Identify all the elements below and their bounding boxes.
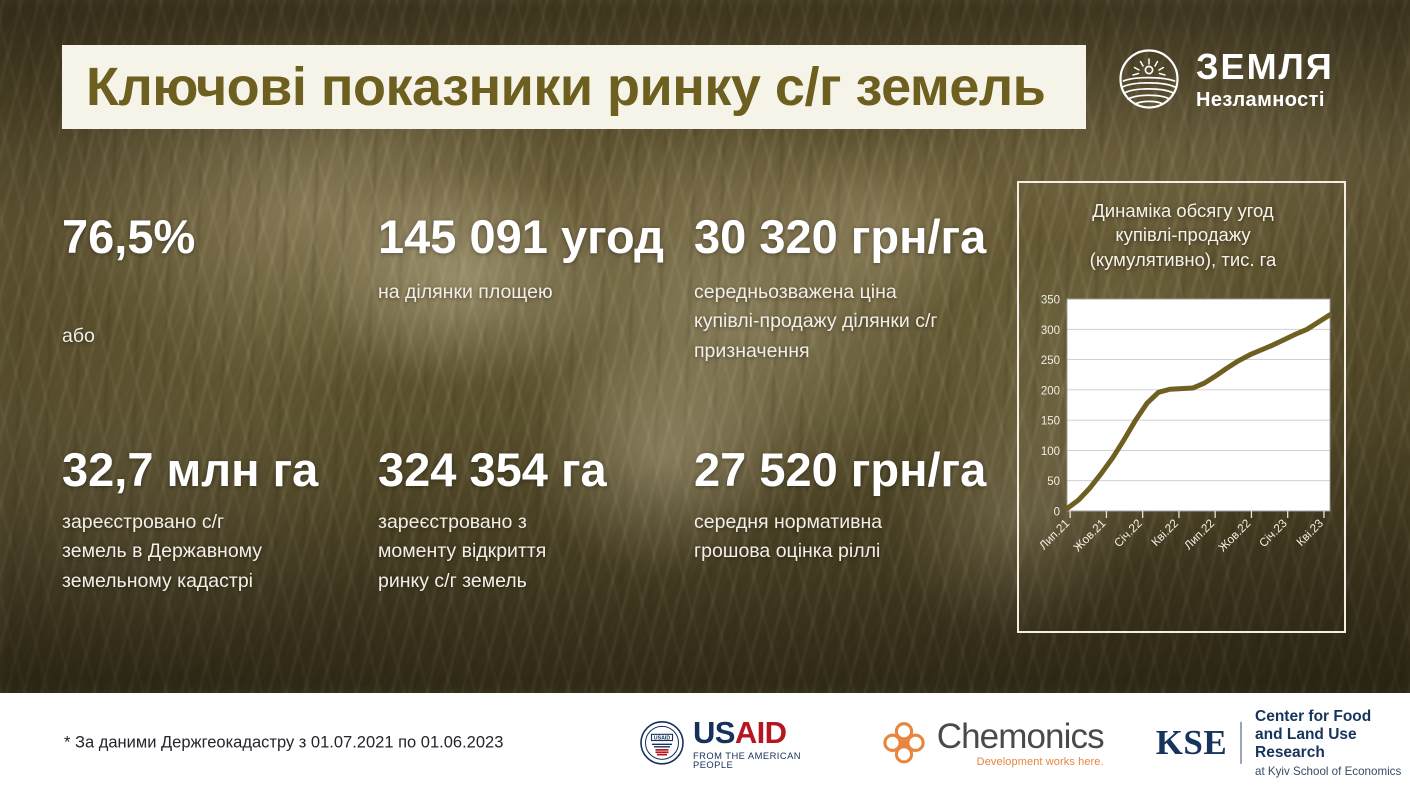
stat-normative-monetary-valuation: 27 520 грн/га середня нормативна грошова…	[694, 445, 992, 597]
kse-center-name: Center for Food and Land Use Research at…	[1255, 708, 1410, 778]
chemonics-word: Chemonics	[937, 719, 1104, 754]
footer-bar: * За даними Держгеокадастру з 01.07.2021…	[0, 693, 1410, 793]
field-sun-circle-icon	[1118, 48, 1180, 110]
kse-divider	[1240, 722, 1242, 764]
chemonics-logo: Chemonics Development works here.	[881, 719, 1104, 768]
chart-title: Динаміка обсягу угод купівлі-продажу (ку…	[1033, 199, 1333, 272]
statistics-row-2: 32,7 млн га зареєстровано с/г земель в Д…	[62, 445, 992, 597]
stat-area-since-market-open: 324 354 га зареєстровано з моменту відкр…	[378, 445, 694, 597]
brand-subtitle: Незламності	[1196, 90, 1334, 110]
plot-background	[1067, 299, 1330, 511]
kse-line-1: Center for Food	[1255, 708, 1410, 726]
x-tick-label: Лип.22	[1181, 516, 1217, 552]
title-bar: Ключові показники ринку с/г земель	[62, 45, 1086, 129]
stat-description: або	[62, 322, 362, 352]
footnote-text: * За даними Держгеокадастру з 01.07.2021…	[64, 734, 503, 753]
y-tick-label: 50	[1047, 476, 1060, 488]
kse-logo: KSE Center for Food and Land Use Researc…	[1156, 708, 1410, 778]
usaid-word-us: US	[693, 715, 735, 750]
usaid-seal-icon: USAID	[640, 721, 684, 765]
infographic-root: Ключові показники ринку с/г земель	[0, 0, 1410, 793]
stat-value: 324 354 га	[378, 445, 694, 495]
y-tick-label: 350	[1041, 295, 1060, 307]
stat-value: 27 520 грн/га	[694, 445, 992, 495]
chemonics-tagline: Development works here.	[937, 757, 1104, 768]
x-tick-label: Лип.21	[1036, 516, 1072, 552]
x-tick-label: Кві.23	[1293, 516, 1326, 549]
kse-line-2: and Land Use Research	[1255, 726, 1410, 762]
x-tick-label: Кві.22	[1148, 516, 1181, 549]
x-tick-label: Січ.23	[1256, 516, 1290, 550]
stat-description: середня нормативна грошова оцінка ріллі	[694, 508, 992, 567]
y-tick-label: 0	[1054, 507, 1060, 519]
chart-area: 050100150200250300350Лип.21Жов.21Січ.22К…	[1019, 287, 1348, 627]
stat-description: середньозважена ціна купівлі-продажу діл…	[694, 278, 992, 367]
brand-logo: ЗЕМЛЯ Незламності	[1118, 48, 1334, 110]
stat-value: 30 320 грн/га	[694, 212, 992, 262]
usaid-logo: USAID USAID FROM THE AMERICAN PEOPLE	[640, 717, 829, 770]
y-tick-label: 100	[1041, 446, 1060, 458]
chemonics-wordmark: Chemonics Development works here.	[937, 719, 1104, 768]
brand-text: ЗЕМЛЯ Незламності	[1196, 49, 1334, 110]
x-tick-label: Жов.21	[1070, 516, 1108, 554]
cumulative-deals-line-chart: 050100150200250300350Лип.21Жов.21Січ.22К…	[1019, 287, 1348, 627]
stat-description: зареєстровано с/г земель в Державному зе…	[62, 508, 362, 597]
statistics-grid: 76,5% або 145 091 угод на ділянки площею…	[62, 212, 992, 596]
stat-value: 76,5%	[62, 212, 378, 262]
x-tick-label: Жов.22	[1215, 516, 1253, 554]
chemonics-quatrefoil-icon	[881, 720, 927, 766]
partner-logos: USAID USAID FROM THE AMERICAN PEOPLE	[640, 708, 1410, 778]
stat-description: зареєстровано з моменту відкриття ринку …	[378, 508, 678, 597]
stat-deals-count: 145 091 угод на ділянки площею	[378, 212, 694, 367]
kse-line-3: at Kyiv School of Economics	[1255, 765, 1410, 778]
stat-weighted-average-price: 30 320 грн/га середньозважена ціна купів…	[694, 212, 992, 367]
page-title: Ключові показники ринку с/г земель	[62, 45, 1045, 129]
y-tick-label: 150	[1041, 416, 1060, 428]
x-tick-label: Січ.22	[1111, 516, 1145, 550]
svg-text:USAID: USAID	[654, 736, 671, 742]
usaid-tagline: FROM THE AMERICAN PEOPLE	[693, 751, 829, 770]
stat-description: на ділянки площею	[378, 278, 678, 308]
stat-share-registered: 76,5% або	[62, 212, 378, 367]
stat-value: 32,7 млн га	[62, 445, 378, 495]
stat-registered-area: 32,7 млн га зареєстровано с/г земель в Д…	[62, 445, 378, 597]
statistics-row-1: 76,5% або 145 091 угод на ділянки площею…	[62, 212, 992, 367]
usaid-wordmark: USAID FROM THE AMERICAN PEOPLE	[693, 717, 829, 770]
y-tick-label: 300	[1041, 325, 1060, 337]
brand-name: ЗЕМЛЯ	[1196, 49, 1334, 85]
usaid-word-aid: AID	[735, 715, 787, 750]
stat-value: 145 091 угод	[378, 212, 694, 262]
kse-word: KSE	[1156, 723, 1228, 763]
y-tick-label: 250	[1041, 355, 1060, 367]
chart-panel: Динаміка обсягу угод купівлі-продажу (ку…	[1017, 181, 1346, 633]
y-tick-label: 200	[1041, 385, 1060, 397]
